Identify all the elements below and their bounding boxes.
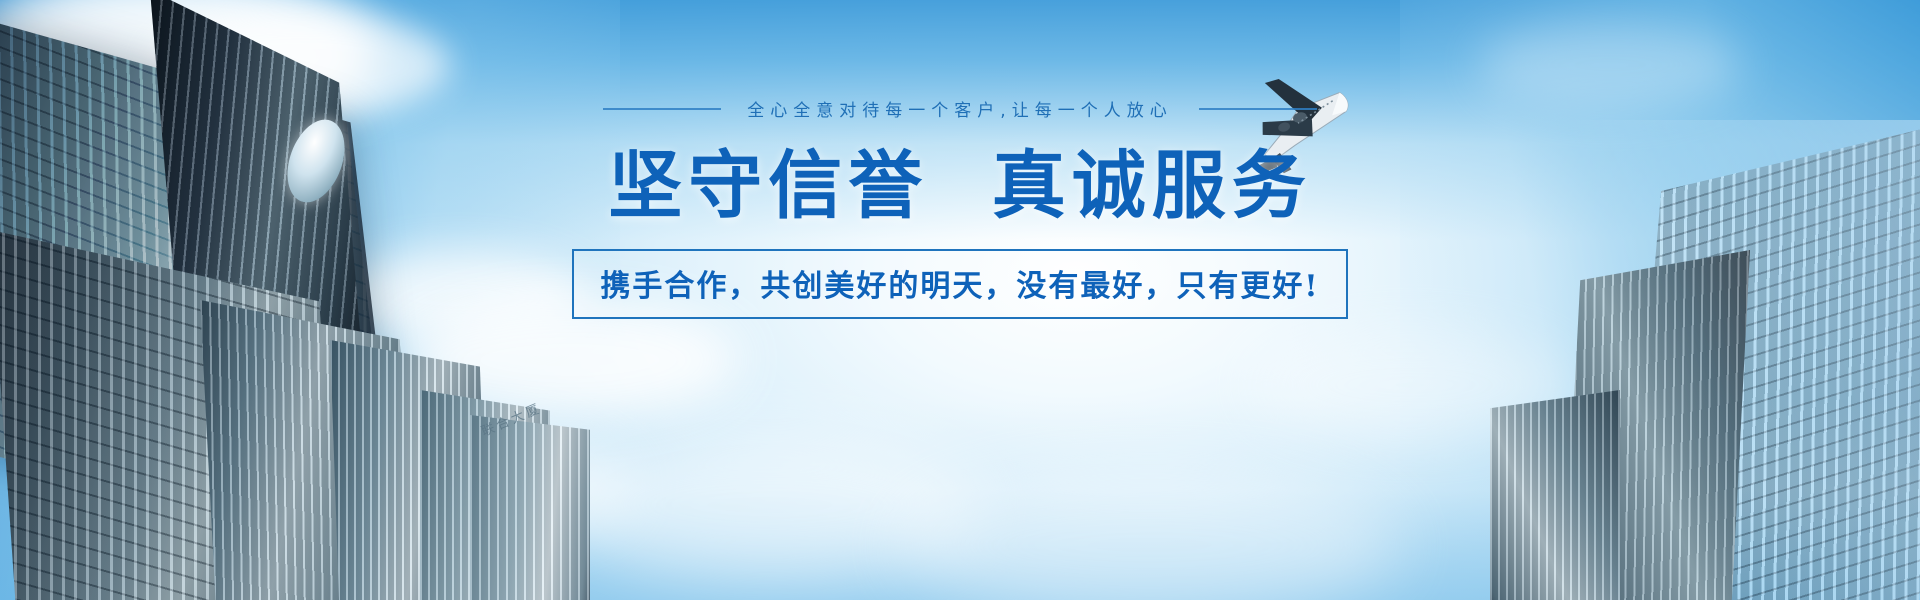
hero-banner: 联合大厦 全心全意对待每一个客户,让每一个人放心 xyxy=(0,0,1920,600)
building-mid-d xyxy=(470,415,590,600)
eyebrow-row: 全心全意对待每一个客户,让每一个人放心 xyxy=(603,96,1316,121)
subtitle-box: 携手合作，共创美好的明天，没有最好，只有更好! xyxy=(572,249,1347,319)
eyebrow-text: 全心全意对待每一个客户,让每一个人放心 xyxy=(747,96,1172,121)
decor-rule-left xyxy=(603,108,721,110)
headline: 坚守信誉 真诚服务 xyxy=(608,149,1312,223)
decor-rule-right xyxy=(1199,108,1317,110)
skyscraper-right-third xyxy=(1490,390,1620,600)
banner-text-block: 全心全意对待每一个客户,让每一个人放心 坚守信誉 真诚服务 携手合作，共创美好的… xyxy=(0,96,1920,319)
